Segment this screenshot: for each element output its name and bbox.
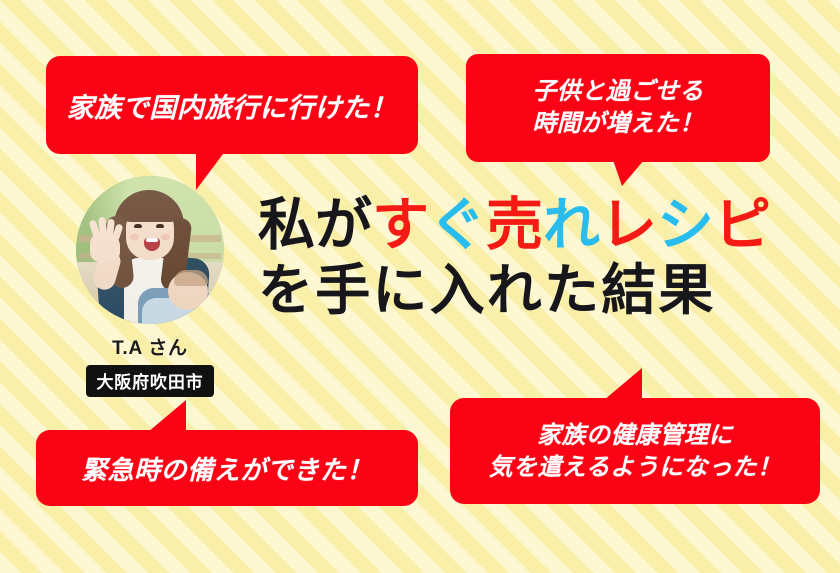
bubble-time-line-2: 時間が増えた！ xyxy=(532,108,703,140)
promo-banner: 家族で国内旅行に行けた！ 子供と過ごせる 時間が増えた！ xyxy=(0,0,840,573)
testimonial-bubble-time: 子供と過ごせる 時間が増えた！ xyxy=(466,54,770,162)
avatar-eye-left xyxy=(134,224,142,228)
bubble-health-line-1: 家族の健康管理に xyxy=(537,419,733,451)
avatar-name: T.A さん xyxy=(74,333,226,360)
bubble-time-tail xyxy=(613,160,644,186)
bubble-health-tail xyxy=(604,368,642,400)
testimonial-bubble-emergency: 緊急時の備えができた！ xyxy=(36,430,418,506)
bubble-emergency-line-1: 緊急時の備えができた！ xyxy=(81,450,373,487)
avatar-block: T.A さん 大阪府吹田市 xyxy=(74,176,226,397)
avatar-bangs xyxy=(122,198,178,222)
headline-seg-watashiga: 私が xyxy=(258,192,372,258)
headline-seg-re: れ xyxy=(543,192,600,258)
headline-line-2: を手に入れた結果 xyxy=(258,262,818,318)
headline-line-1: 私がすぐ売れレシピ xyxy=(258,196,818,254)
headline-seg-shi: シ xyxy=(657,192,714,258)
page-title: 私がすぐ売れレシピ を手に入れた結果 xyxy=(258,196,818,318)
bubble-time-line-1: 子供と過ごせる xyxy=(532,76,703,108)
bubble-health-line-2: 気を遣えるようになった！ xyxy=(488,451,781,483)
headline-seg-kekka: を手に入れた結果 xyxy=(258,258,716,322)
headline-seg-su: す xyxy=(372,192,429,258)
headline-seg-ure: 売 xyxy=(486,192,543,258)
avatar-cheek-right xyxy=(161,234,170,240)
bubble-emergency-tail xyxy=(148,400,186,432)
avatar-eye-right xyxy=(156,224,164,228)
testimonial-bubble-travel: 家族で国内旅行に行けた！ xyxy=(46,56,418,154)
headline-seg-pi: ピ xyxy=(714,192,771,258)
testimonial-bubble-health: 家族の健康管理に 気を遣えるようになった！ xyxy=(450,398,820,504)
avatar xyxy=(76,176,224,324)
avatar-cheek-left xyxy=(130,234,139,240)
bubble-travel-line-1: 家族で国内旅行に行けた！ xyxy=(67,86,397,125)
headline-seg-re-katakana: レ xyxy=(600,192,657,258)
avatar-baby-hair xyxy=(174,270,208,286)
avatar-location-badge: 大阪府吹田市 xyxy=(86,365,213,397)
headline-seg-gu: ぐ xyxy=(429,192,486,258)
